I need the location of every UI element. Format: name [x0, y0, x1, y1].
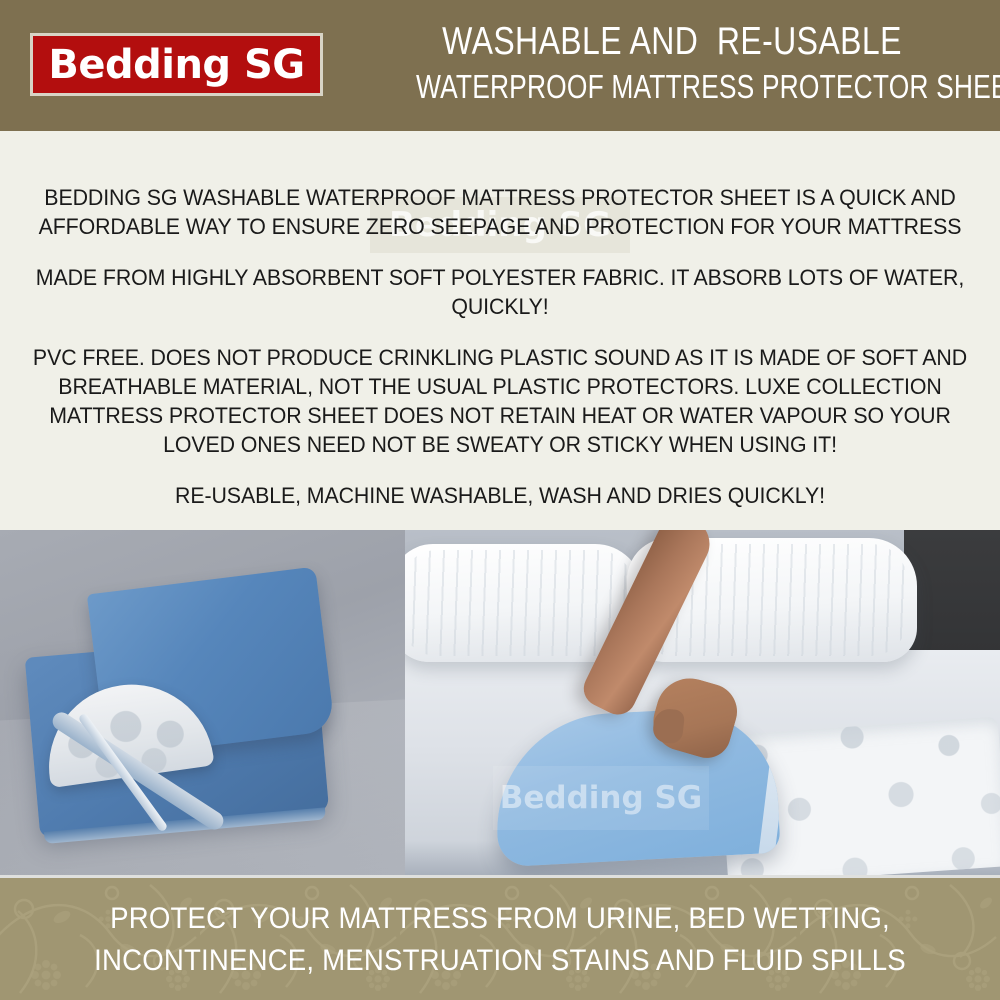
product-infographic: Bedding SG WASHABLE AND RE-USABLE WATERP…: [0, 0, 1000, 1000]
product-photo-on-bed: Bedding SG: [405, 530, 1000, 875]
product-photo-folded-sheet: [0, 530, 405, 875]
description-paragraph: BEDDING SG WASHABLE WATERPROOF MATTRESS …: [32, 183, 967, 241]
brand-logo: Bedding SG: [30, 33, 323, 96]
brand-logo-text: Bedding SG: [48, 45, 304, 85]
header-title-secondary: WATERPROOF MATTRESS PROTECTOR SHEET: [416, 66, 928, 108]
description-paragraph: MADE FROM HIGHLY ABSORBENT SOFT POLYESTE…: [32, 263, 967, 321]
footer-banner: PROTECT YOUR MATTRESS FROM URINE, BED WE…: [0, 875, 1000, 1000]
description-section: Bedding SG BEDDING SG WASHABLE WATERPROO…: [0, 131, 1000, 530]
header-title-group: WASHABLE AND RE-USABLE WATERPROOF MATTRE…: [352, 18, 992, 108]
header-title-primary: WASHABLE AND RE-USABLE: [410, 18, 935, 66]
footer-tagline: PROTECT YOUR MATTRESS FROM URINE, BED WE…: [58, 898, 941, 982]
product-photo-band: Bedding SG: [0, 530, 1000, 875]
header-banner: Bedding SG WASHABLE AND RE-USABLE WATERP…: [0, 0, 1000, 131]
description-paragraph: RE-USABLE, MACHINE WASHABLE, WASH AND DR…: [32, 481, 967, 510]
description-paragraph-list: BEDDING SG WASHABLE WATERPROOF MATTRESS …: [18, 183, 982, 510]
description-paragraph: PVC FREE. DOES NOT PRODUCE CRINKLING PLA…: [32, 343, 967, 459]
